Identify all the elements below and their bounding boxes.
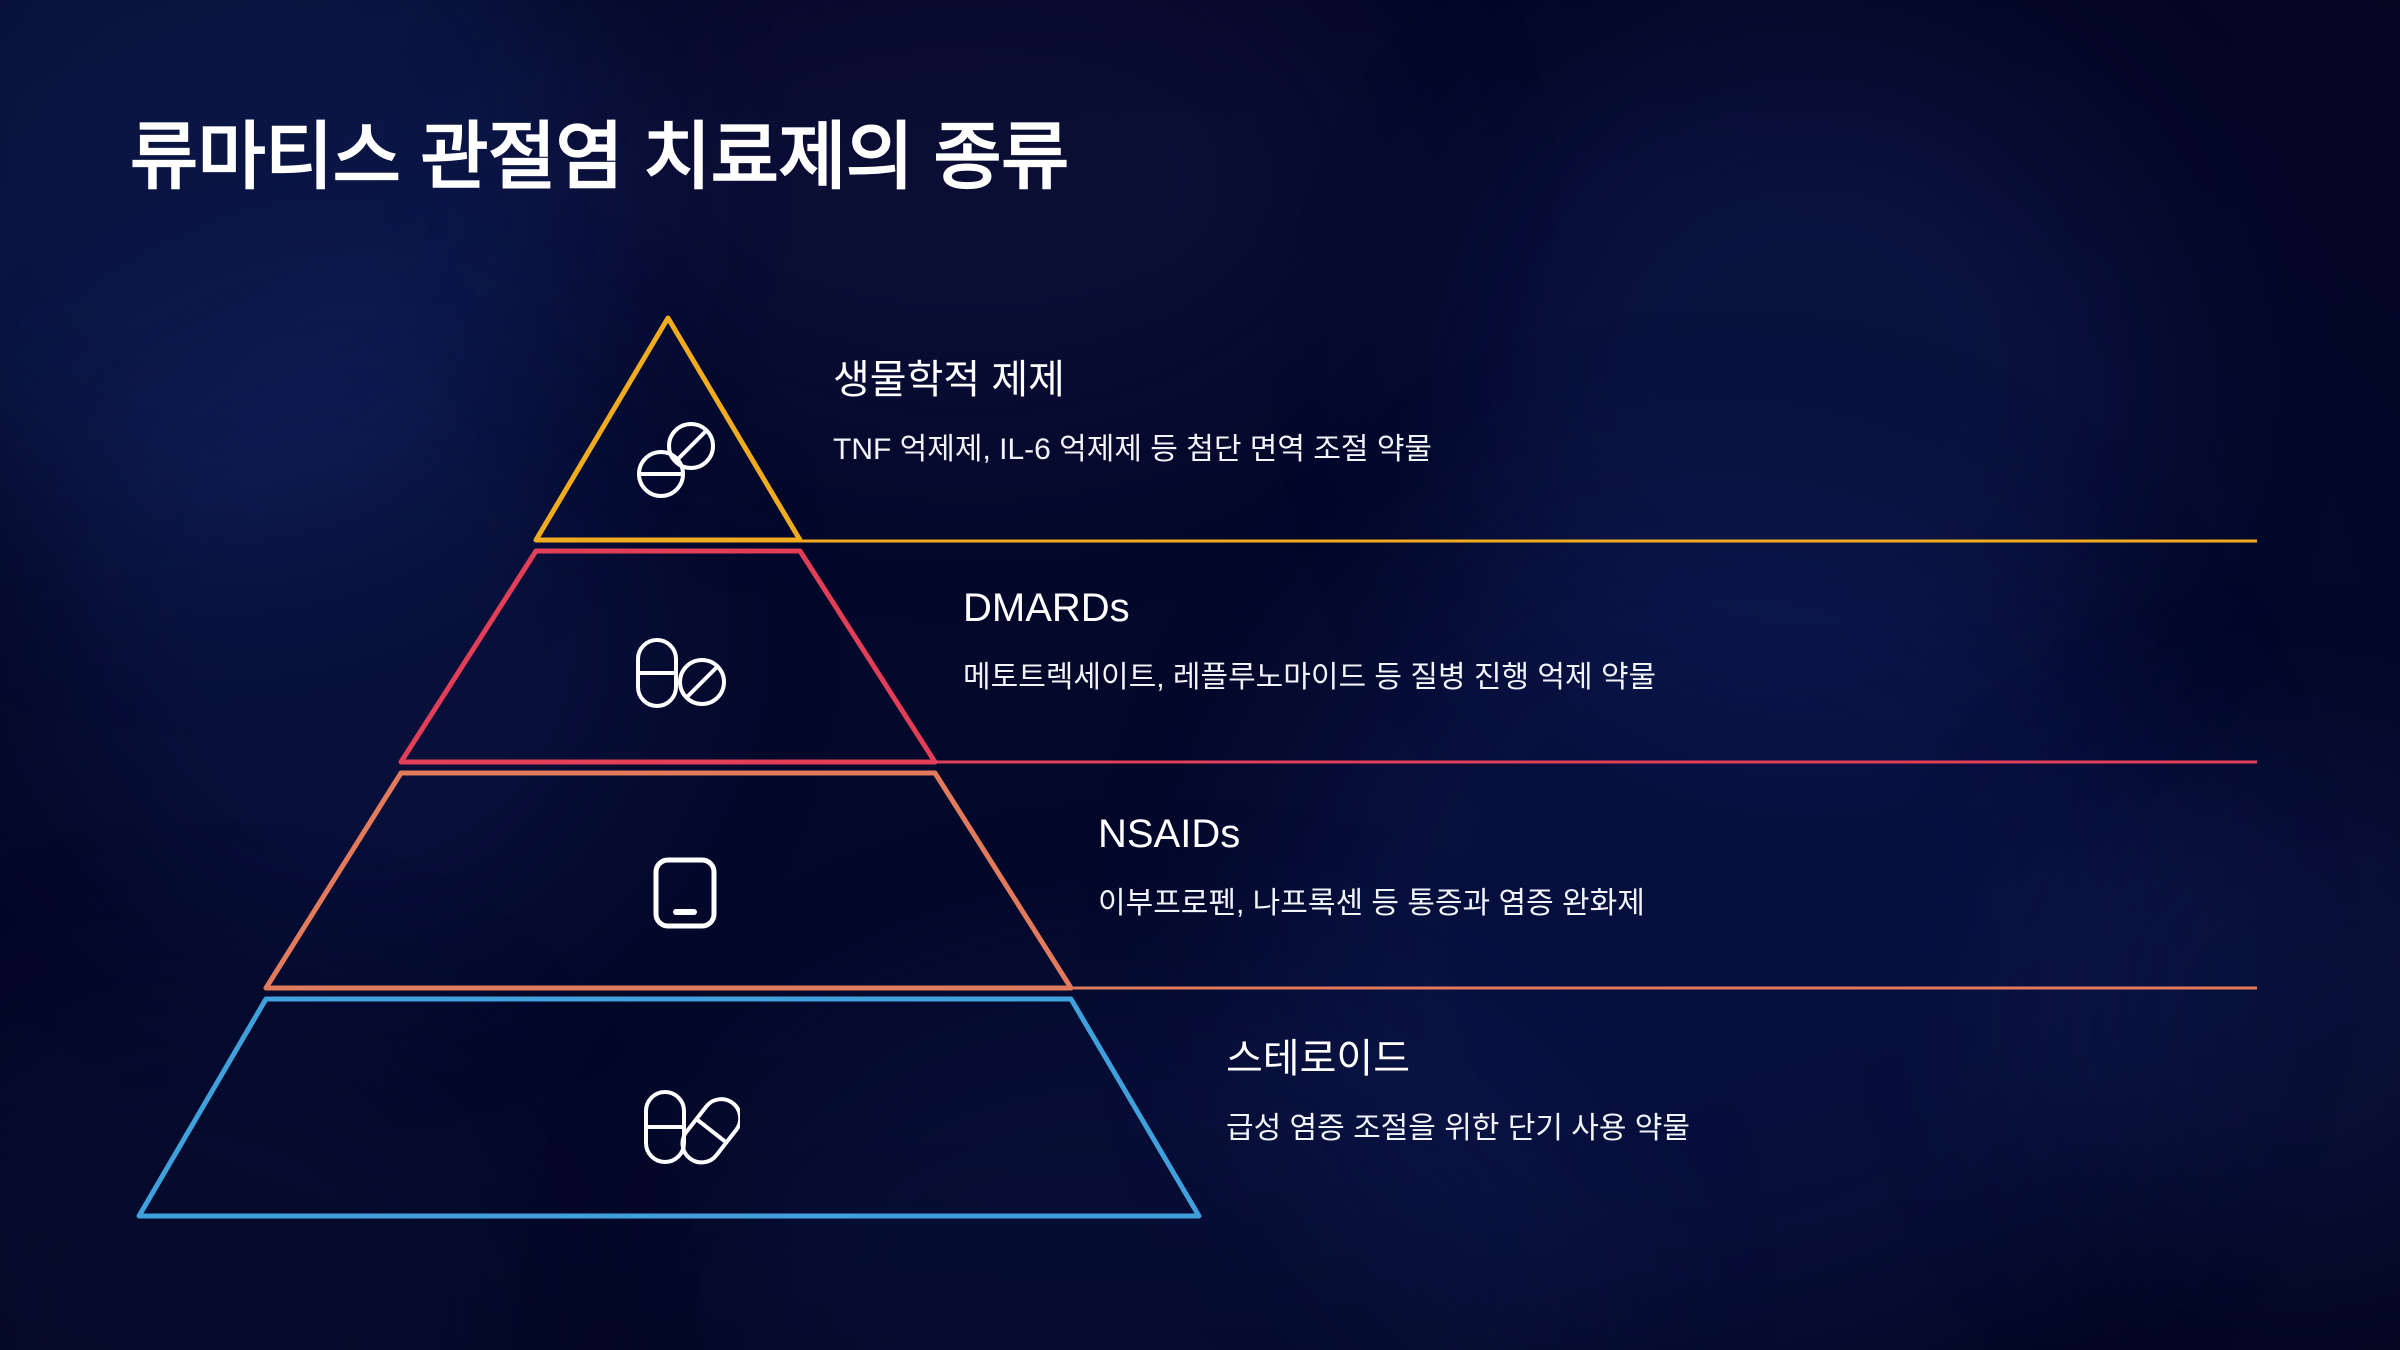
tier-2-text-block: DMARDs 메토트렉세이트, 레플루노마이드 등 질병 진행 억제 약물 xyxy=(963,583,1656,697)
tier-4-description: 급성 염증 조절을 위한 단기 사용 약물 xyxy=(1226,1109,1690,1148)
two-capsules-icon xyxy=(640,1084,740,1172)
two-tablets-icon xyxy=(630,418,720,502)
tier-3-text-block: NSAIDs 이부프로펜, 나프록센 등 통증과 염증 완화제 xyxy=(1098,809,1645,923)
tier-1-description: TNF 억제제, IL-6 억제제 등 첨단 면역 조절 약물 xyxy=(833,430,1432,469)
tier-1-text-block: 생물학적 제제 TNF 억제제, IL-6 억제제 등 첨단 면역 조절 약물 xyxy=(833,355,1432,469)
capsule-and-tablet-icon xyxy=(632,632,728,716)
tier-4-title: 스테로이드 xyxy=(1226,1034,1690,1084)
tier-1-title: 생물학적 제제 xyxy=(833,355,1432,405)
tier-2-title: DMARDs xyxy=(963,583,1656,633)
tier-3-title: NSAIDs xyxy=(1098,809,1645,859)
slide-canvas: 류마티스 관절염 치료제의 종류 xyxy=(0,0,2400,1350)
tier-3-description: 이부프로펜, 나프록센 등 통증과 염증 완화제 xyxy=(1098,884,1645,923)
pill-pack-icon xyxy=(648,854,726,938)
tier-4-text-block: 스테로이드 급성 염증 조절을 위한 단기 사용 약물 xyxy=(1226,1034,1690,1148)
tier-2-description: 메토트렉세이트, 레플루노마이드 등 질병 진행 억제 약물 xyxy=(963,658,1656,697)
